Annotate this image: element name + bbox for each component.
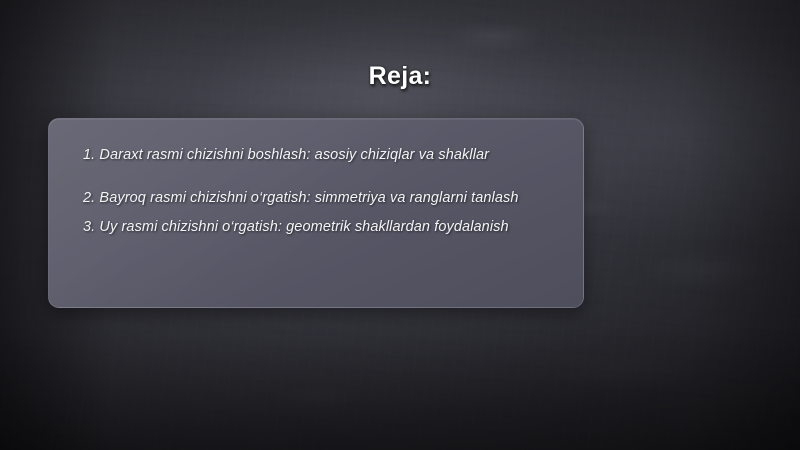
list-item: 1. Daraxt rasmi chizishni boshlash: asos… [83, 145, 561, 166]
slide-title: Reja: [0, 62, 800, 91]
list-item: 2. Bayroq rasmi chizishni o‘rgatish: sim… [83, 188, 561, 209]
list-item: 3. Uy rasmi chizishni o‘rgatish: geometr… [83, 217, 561, 238]
presentation-slide: Reja: 1. Daraxt rasmi chizishni boshlash… [0, 0, 800, 450]
plan-panel: 1. Daraxt rasmi chizishni boshlash: asos… [48, 118, 584, 308]
plan-list: 1. Daraxt rasmi chizishni boshlash: asos… [83, 145, 561, 238]
